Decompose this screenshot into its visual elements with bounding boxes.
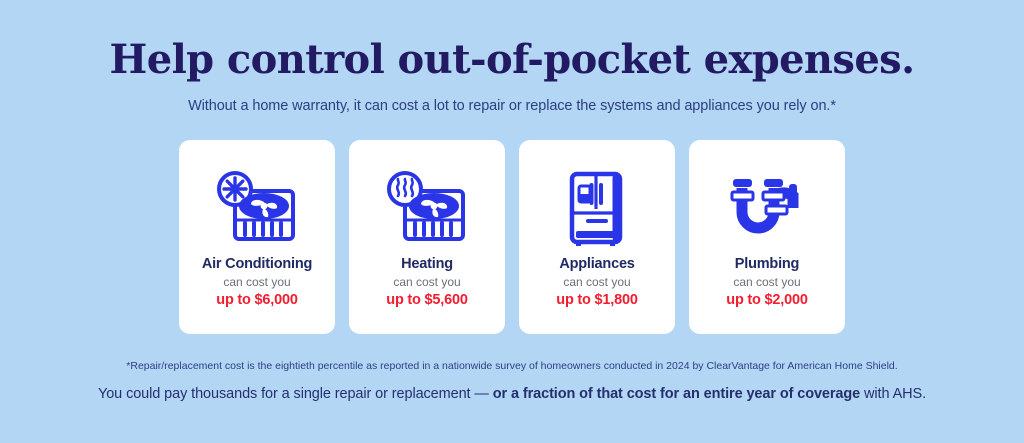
cost-card-subtext: can cost you xyxy=(563,275,630,289)
cost-card-price: up to $1,800 xyxy=(556,292,637,308)
cost-card-subtext: can cost you xyxy=(393,275,460,289)
closing-statement: You could pay thousands for a single rep… xyxy=(0,372,1024,402)
heater-icon xyxy=(383,164,471,254)
promo-banner: Help control out-of-pocket expenses. Wit… xyxy=(0,0,1024,443)
cost-card-title: Air Conditioning xyxy=(202,256,312,272)
closing-tail: with AHS. xyxy=(860,386,926,402)
subheadline: Without a home warranty, it can cost a l… xyxy=(0,82,1024,114)
closing-lead: You could pay thousands for a single rep… xyxy=(98,386,493,402)
closing-emphasis: or a fraction of that cost for an entire… xyxy=(493,386,860,402)
cost-card-appliances[interactable]: Appliances can cost you up to $1,800 xyxy=(519,140,675,334)
cost-card-heating[interactable]: Heating can cost you up to $5,600 xyxy=(349,140,505,334)
footnote-disclaimer: *Repair/replacement cost is the eightiet… xyxy=(0,334,1024,372)
cost-card-price: up to $2,000 xyxy=(726,292,807,308)
cost-card-price: up to $5,600 xyxy=(386,292,467,308)
cost-card-list: Air Conditioning can cost you up to $6,0… xyxy=(0,140,1024,334)
cost-card-title: Heating xyxy=(401,256,453,272)
refrigerator-icon xyxy=(559,164,635,254)
page-title: Help control out-of-pocket expenses. xyxy=(0,0,1024,82)
cost-card-plumbing[interactable]: Plumbing can cost you up to $2,000 xyxy=(689,140,845,334)
cost-card-air-conditioning[interactable]: Air Conditioning can cost you up to $6,0… xyxy=(179,140,335,334)
air-conditioner-icon xyxy=(213,164,301,254)
cost-card-subtext: can cost you xyxy=(733,275,800,289)
cost-card-title: Appliances xyxy=(559,256,634,272)
plumbing-pipe-icon xyxy=(721,164,813,254)
cost-card-title: Plumbing xyxy=(735,256,799,272)
cost-card-price: up to $6,000 xyxy=(216,292,297,308)
cost-card-subtext: can cost you xyxy=(223,275,290,289)
